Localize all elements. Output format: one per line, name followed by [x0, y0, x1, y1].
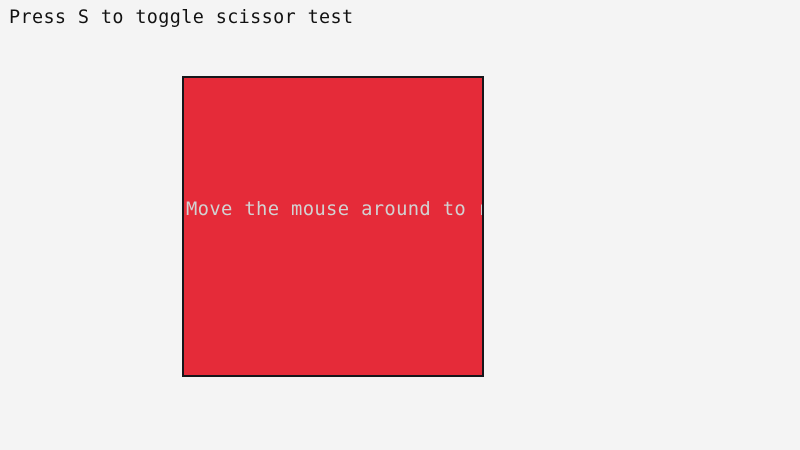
- scissor-toggle-hint: Press S to toggle scissor test: [9, 5, 354, 29]
- scissor-fill: [184, 78, 482, 375]
- app-canvas: Press S to toggle scissor test Move the …: [0, 0, 800, 450]
- scissor-message-text: Move the mouse around to resize the scis…: [186, 198, 484, 220]
- scissor-rectangle[interactable]: Move the mouse around to resize the scis…: [182, 76, 484, 377]
